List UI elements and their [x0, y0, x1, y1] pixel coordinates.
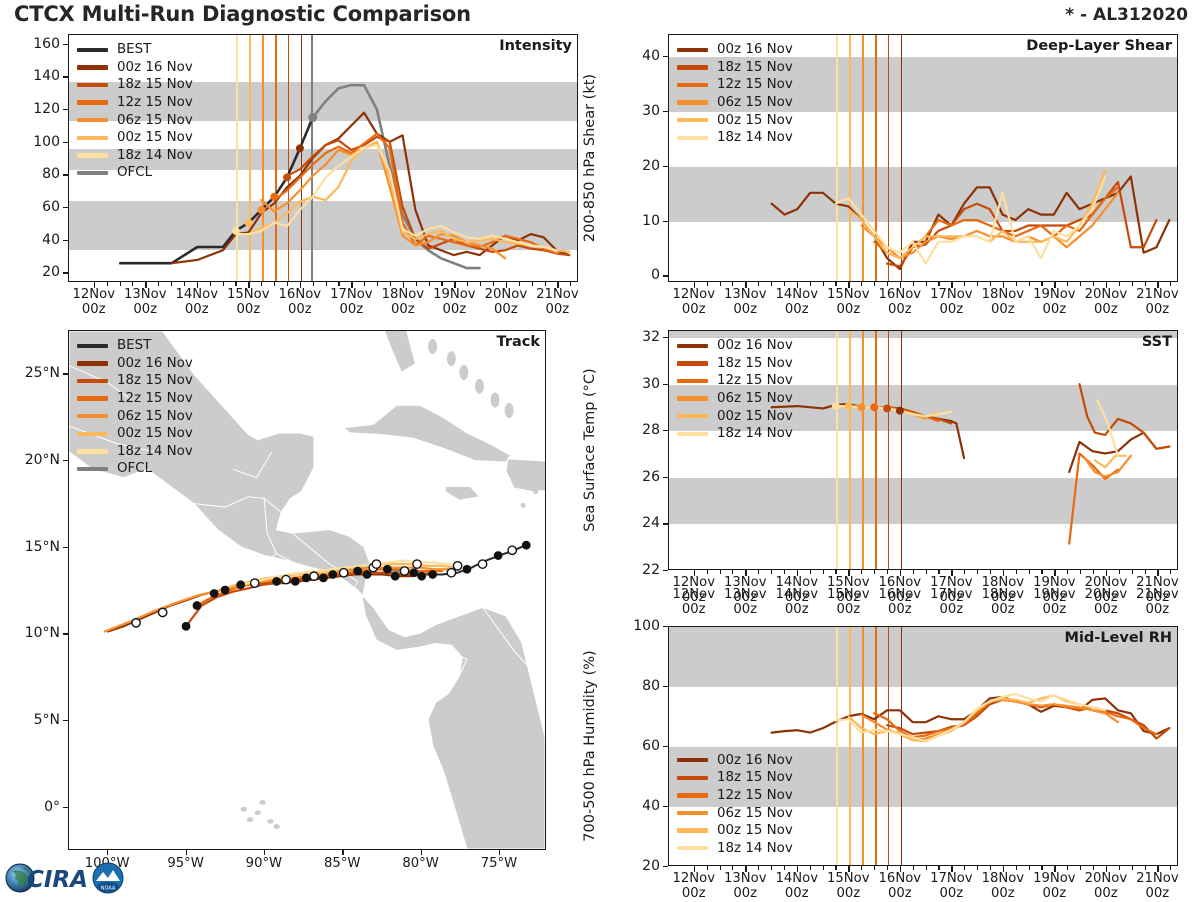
x-tick-minor: [338, 282, 339, 286]
x-tick-mark: [1003, 866, 1004, 872]
x-tick-mark: [848, 866, 849, 872]
x-tick-mark: [351, 282, 352, 288]
track-marker-hollow: [413, 560, 421, 568]
x-tick-minor: [720, 570, 721, 574]
legend-shear: 00z 16 Nov18z 15 Nov12z 15 Nov06z 15 Nov…: [677, 41, 793, 147]
x-tick-mark: [797, 866, 798, 872]
x-tick-day: 15Nov: [227, 287, 270, 302]
x-tick-day: 18Nov: [382, 287, 425, 302]
legend-item: 18z 15 Nov: [77, 76, 193, 94]
panel-title-rh: Mid-Level RH: [1065, 630, 1172, 646]
x-tick-label-upper: 13Nov00z: [724, 588, 767, 618]
y-tick-mark: [663, 384, 668, 385]
x-tick-minor: [874, 570, 875, 574]
x-tick-label: 15Nov00z: [227, 288, 270, 318]
legend-item: 18z 15 Nov: [77, 372, 193, 390]
x-tick-mark: [797, 570, 798, 576]
legend-label: 00z 16 Nov: [717, 42, 793, 57]
x-tick-minor: [977, 282, 978, 286]
x-tick-minor: [274, 282, 275, 286]
legend-item: 06z 15 Nov: [77, 407, 193, 425]
track-marker-filled: [494, 551, 503, 560]
x-tick-mark: [745, 282, 746, 288]
x-tick-mark: [745, 866, 746, 872]
legend-label: 06z 15 Nov: [117, 113, 193, 128]
legend-item: 00z 15 Nov: [677, 407, 793, 425]
legend-swatch-run_00z16: [77, 361, 108, 365]
track-marker-filled: [428, 570, 437, 579]
x-tick-label-upper: 20Nov00z: [1085, 588, 1128, 618]
x-tick-hour: 00z: [733, 602, 757, 617]
x-tick-minor: [707, 570, 708, 574]
x-tick-minor: [1029, 282, 1030, 286]
x-tick-label: 95°W: [167, 857, 203, 872]
x-tick-label-upper: 15Nov00z: [827, 588, 870, 618]
x-tick-hour: 00z: [733, 886, 757, 901]
y-tick-label: 20: [612, 158, 660, 174]
legend-label: 06z 15 Nov: [717, 391, 793, 406]
x-tick-minor: [1145, 570, 1146, 574]
track-marker-filled: [391, 572, 400, 581]
x-tick-minor: [1093, 866, 1094, 870]
x-tick-mark: [848, 282, 849, 288]
series-line: [1095, 456, 1126, 468]
x-tick-hour: 00z: [888, 886, 912, 901]
x-tick-mark: [197, 282, 198, 288]
track-marker-filled: [522, 541, 531, 550]
legend-swatch-run_00z16: [677, 758, 708, 762]
track-marker-hollow: [400, 567, 408, 575]
y-tick-mark: [63, 633, 68, 634]
x-tick-minor: [1145, 282, 1146, 286]
track-marker-filled: [319, 574, 328, 583]
x-tick-minor: [235, 282, 236, 286]
y-tick-mark: [663, 626, 668, 627]
track-marker-filled: [210, 589, 219, 598]
x-tick-hour: 00z: [391, 302, 415, 317]
x-tick-minor: [480, 282, 481, 286]
track-marker-hollow: [372, 560, 380, 568]
x-tick-minor: [493, 282, 494, 286]
x-tick-minor: [1067, 570, 1068, 574]
track-marker-hollow: [508, 546, 516, 554]
axes-rh: Mid-Level RH00z 16 Nov18z 15 Nov12z 15 N…: [668, 626, 1178, 866]
x-tick-minor: [532, 282, 533, 286]
x-tick-minor: [771, 570, 772, 574]
y-tick-label: 26: [612, 469, 660, 485]
legend-item: 18z 14 Nov: [677, 839, 793, 857]
x-tick-minor: [913, 282, 914, 286]
x-tick-day: 15Nov: [827, 587, 870, 602]
track-marker-filled: [193, 601, 202, 610]
x-tick-mark: [694, 570, 695, 576]
series-line: [772, 176, 1170, 269]
x-tick-minor: [570, 282, 571, 286]
x-tick-minor: [1016, 866, 1017, 870]
x-tick-hour: 00z: [339, 302, 363, 317]
x-tick-hour: 00z: [1146, 886, 1170, 901]
x-tick-minor: [926, 282, 927, 286]
y-tick-label: 10°N: [12, 625, 60, 641]
x-tick-mark: [900, 866, 901, 872]
x-tick-mark: [248, 282, 249, 288]
x-tick-minor: [874, 282, 875, 286]
track-marker-filled: [463, 565, 472, 574]
x-tick-minor: [823, 866, 824, 870]
y-tick-label: 160: [12, 36, 60, 52]
track-marker-hollow: [251, 579, 259, 587]
y-tick-mark: [663, 477, 668, 478]
x-tick-minor: [990, 570, 991, 574]
y-tick-mark: [63, 109, 68, 110]
legend-swatch-run_12z15: [677, 379, 708, 383]
x-tick-label: 13Nov00z: [124, 288, 167, 318]
legend-swatch-run_12z15: [677, 83, 708, 87]
x-tick-minor: [1067, 866, 1068, 870]
x-tick-hour: 00z: [494, 302, 518, 317]
y-tick-label: 100: [12, 134, 60, 150]
legend-item: 00z 16 Nov: [677, 751, 793, 769]
legend-item: OFCL: [77, 460, 193, 478]
track-marker-filled: [363, 570, 372, 579]
legend-swatch-run_18z14: [677, 136, 708, 140]
x-tick-minor: [990, 866, 991, 870]
x-tick-mark: [745, 570, 746, 576]
legend-label: 00z 16 Nov: [717, 753, 793, 768]
x-tick-label: 12Nov00z: [672, 288, 715, 318]
y-tick-mark: [63, 44, 68, 45]
x-tick-mark: [421, 850, 422, 855]
track-marker-hollow: [478, 560, 486, 568]
x-tick-day: 12Nov: [72, 287, 115, 302]
y-tick-mark: [663, 686, 668, 687]
svg-text:CIRA: CIRA: [27, 867, 88, 893]
x-tick-minor: [720, 282, 721, 286]
x-tick-label-upper: 21Nov00z: [1136, 588, 1179, 618]
x-tick-mark: [107, 850, 108, 855]
axes-sst: SST00z 16 Nov18z 15 Nov12z 15 Nov06z 15 …: [668, 330, 1178, 570]
legend-item: 12z 15 Nov: [677, 372, 793, 390]
legend-item: 00z 15 Nov: [677, 822, 793, 840]
y-tick-label: 32: [612, 329, 660, 345]
x-tick-minor: [441, 282, 442, 286]
x-tick-minor: [171, 282, 172, 286]
x-tick-day: 16Nov: [279, 287, 322, 302]
x-tick-minor: [287, 282, 288, 286]
x-tick-mark: [951, 570, 952, 576]
x-tick-label: 16Nov00z: [879, 288, 922, 318]
x-tick-minor: [758, 282, 759, 286]
x-tick-label-upper: 16Nov00z: [879, 588, 922, 618]
legend-item: 18z 15 Nov: [677, 769, 793, 787]
x-tick-minor: [1041, 866, 1042, 870]
x-tick-day: 13Nov: [724, 587, 767, 602]
legend-swatch-run_12z15: [77, 396, 108, 400]
x-tick-minor: [1080, 282, 1081, 286]
x-tick-hour: 00z: [1146, 602, 1170, 617]
x-tick-minor: [887, 282, 888, 286]
init-marker: [896, 407, 904, 415]
legend-item: 00z 16 Nov: [677, 337, 793, 355]
x-tick-hour: 00z: [836, 302, 860, 317]
series-line: [1080, 384, 1170, 449]
x-tick-label: 19Nov00z: [1033, 288, 1076, 318]
y-tick-label: 20°N: [12, 452, 60, 468]
legend-track: BEST00z 16 Nov18z 15 Nov12z 15 Nov06z 15…: [77, 337, 193, 478]
legend-item: 12z 15 Nov: [77, 94, 193, 112]
x-tick-minor: [823, 570, 824, 574]
x-tick-minor: [861, 866, 862, 870]
x-tick-hour: 00z: [1094, 302, 1118, 317]
page-title: CTCX Multi-Run Diagnostic Comparison: [14, 2, 471, 26]
x-tick-day: 19Nov: [1033, 871, 1076, 886]
x-tick-mark: [900, 570, 901, 576]
track-marker-hollow: [339, 569, 347, 577]
x-tick-mark: [1157, 570, 1158, 576]
legend-label: 18z 15 Nov: [117, 373, 193, 388]
legend-label: 18z 14 Nov: [717, 130, 793, 145]
x-tick-mark: [951, 282, 952, 288]
y-tick-mark: [63, 272, 68, 273]
y-tick-label: 22: [612, 562, 660, 578]
legend-swatch-run_06z15: [77, 414, 108, 418]
x-tick-day: 19Nov: [1033, 587, 1076, 602]
y-tick-mark: [663, 570, 668, 571]
legend-rh: 00z 16 Nov18z 15 Nov12z 15 Nov06z 15 Nov…: [677, 751, 793, 857]
legend-swatch-run_18z14: [77, 449, 108, 453]
x-tick-minor: [107, 282, 108, 286]
x-tick-minor: [784, 282, 785, 286]
legend-item: BEST: [77, 41, 193, 59]
legend-label: 12z 15 Nov: [717, 373, 793, 388]
y-tick-label: 40: [612, 48, 660, 64]
y-tick-mark: [663, 746, 668, 747]
x-tick-hour: 00z: [185, 302, 209, 317]
x-tick-minor: [1170, 866, 1171, 870]
x-tick-minor: [1132, 570, 1133, 574]
x-tick-mark: [186, 850, 187, 855]
y-tick-mark: [63, 142, 68, 143]
x-tick-label-upper: 19Nov00z: [1033, 588, 1076, 618]
x-tick-day: 20Nov: [1085, 287, 1128, 302]
legend-item: 06z 15 Nov: [677, 390, 793, 408]
x-tick-minor: [1041, 282, 1042, 286]
x-tick-day: 13Nov: [124, 287, 167, 302]
x-tick-day: 13Nov: [724, 287, 767, 302]
x-tick-label: 85°W: [324, 857, 360, 872]
x-tick-day: 14Nov: [776, 587, 819, 602]
x-tick-day: 21Nov: [1136, 587, 1179, 602]
panel-title-track: Track: [497, 334, 540, 350]
x-tick-label: 13Nov00z: [724, 872, 767, 902]
x-tick-day: 14Nov: [776, 871, 819, 886]
x-tick-minor: [120, 282, 121, 286]
legend-swatch-run_06z15: [77, 118, 108, 122]
x-tick-mark: [1054, 282, 1055, 288]
legend-label: OFCL: [117, 165, 152, 180]
x-tick-minor: [132, 282, 133, 286]
track-marker-hollow: [282, 575, 290, 583]
init-marker: [296, 144, 304, 152]
track-marker-hollow: [310, 572, 318, 580]
y-tick-mark: [663, 337, 668, 338]
legend-swatch-ofcl: [77, 467, 108, 471]
legend-sst: 00z 16 Nov18z 15 Nov12z 15 Nov06z 15 Nov…: [677, 337, 793, 443]
y-tick-mark: [63, 76, 68, 77]
init-marker: [270, 193, 278, 201]
x-tick-day: 19Nov: [1033, 287, 1076, 302]
x-tick-minor: [977, 866, 978, 870]
x-tick-minor: [977, 570, 978, 574]
x-tick-minor: [1016, 570, 1017, 574]
init-marker: [883, 404, 891, 412]
init-marker: [283, 173, 291, 181]
legend-label: 00z 15 Nov: [117, 130, 193, 145]
x-tick-mark: [145, 282, 146, 288]
x-tick-label: 90°W: [246, 857, 282, 872]
x-tick-mark: [403, 282, 404, 288]
x-tick-day: 19Nov: [433, 287, 476, 302]
x-tick-minor: [784, 570, 785, 574]
x-tick-label: 12Nov00z: [72, 288, 115, 318]
x-tick-label: 14Nov00z: [176, 288, 219, 318]
y-tick-mark: [663, 166, 668, 167]
x-tick-day: 20Nov: [1085, 871, 1128, 886]
legend-swatch-best: [77, 344, 108, 348]
x-tick-hour: 00z: [836, 886, 860, 901]
legend-label: 00z 15 Nov: [117, 426, 193, 441]
x-tick-mark: [951, 866, 952, 872]
x-tick-minor: [835, 570, 836, 574]
legend-swatch-run_00z16: [677, 344, 708, 348]
series-line: [1069, 433, 1169, 472]
x-tick-hour: 00z: [1146, 302, 1170, 317]
y-tick-mark: [663, 56, 668, 57]
x-tick-hour: 00z: [733, 302, 757, 317]
x-tick-label: 14Nov00z: [776, 288, 819, 318]
x-tick-label: 20Nov00z: [485, 288, 528, 318]
x-tick-day: 17Nov: [930, 287, 973, 302]
legend-swatch-run_00z15: [77, 136, 108, 140]
x-tick-day: 20Nov: [485, 287, 528, 302]
panel-title-sst: SST: [1142, 334, 1172, 350]
x-tick-minor: [835, 282, 836, 286]
legend-label: 00z 16 Nov: [117, 60, 193, 75]
legend-label: 18z 15 Nov: [117, 77, 193, 92]
x-tick-hour: 00z: [682, 302, 706, 317]
panel-rh: Mid-Level RH00z 16 Nov18z 15 Nov12z 15 N…: [668, 626, 1178, 866]
x-tick-minor: [1170, 570, 1171, 574]
y-tick-mark: [63, 547, 68, 548]
legend-label: 12z 15 Nov: [117, 95, 193, 110]
legend-swatch-run_06z15: [677, 396, 708, 400]
x-tick-minor: [771, 866, 772, 870]
legend-item: BEST: [77, 337, 193, 355]
cira-logo: CIRA NOAA: [4, 857, 128, 899]
x-tick-minor: [707, 866, 708, 870]
x-tick-hour: 00z: [785, 302, 809, 317]
legend-label: 18z 15 Nov: [717, 770, 793, 785]
legend-label: 00z 16 Nov: [717, 338, 793, 353]
x-tick-hour: 00z: [991, 302, 1015, 317]
series-line: [849, 171, 1106, 258]
legend-item: 18z 14 Nov: [677, 425, 793, 443]
x-tick-minor: [158, 282, 159, 286]
x-tick-day: 16Nov: [879, 871, 922, 886]
x-tick-mark: [848, 570, 849, 576]
track-marker-filled: [302, 574, 311, 583]
legend-item: 00z 16 Nov: [77, 59, 193, 77]
x-tick-label: 20Nov00z: [1085, 288, 1128, 318]
legend-item: 00z 15 Nov: [77, 129, 193, 147]
x-tick-minor: [874, 866, 875, 870]
legend-swatch-run_18z15: [677, 65, 708, 69]
legend-swatch-run_06z15: [677, 100, 708, 104]
series-line: [1085, 456, 1131, 477]
legend-swatch-run_18z15: [77, 379, 108, 383]
x-tick-day: 17Nov: [930, 871, 973, 886]
legend-swatch-run_12z15: [677, 793, 708, 797]
x-tick-label: 20Nov00z: [1085, 872, 1128, 902]
x-tick-mark: [557, 282, 558, 288]
track-marker-filled: [272, 577, 281, 586]
legend-item: 06z 15 Nov: [677, 94, 793, 112]
legend-swatch-run_18z15: [677, 776, 708, 780]
x-tick-minor: [519, 282, 520, 286]
x-tick-minor: [390, 282, 391, 286]
x-tick-day: 18Nov: [982, 871, 1025, 886]
x-tick-day: 17Nov: [330, 287, 373, 302]
legend-label: BEST: [117, 338, 151, 353]
x-tick-mark: [1157, 866, 1158, 872]
track-marker-hollow: [132, 619, 140, 627]
track-marker-filled: [182, 622, 191, 631]
x-tick-day: 18Nov: [982, 287, 1025, 302]
x-tick-minor: [1132, 866, 1133, 870]
x-tick-label: 21Nov00z: [1136, 288, 1179, 318]
legend-label: 00z 15 Nov: [717, 113, 793, 128]
legend-item: 00z 16 Nov: [77, 355, 193, 373]
x-tick-label: 12Nov00z: [672, 872, 715, 902]
x-tick-mark: [264, 850, 265, 855]
y-tick-label: 0°: [12, 799, 60, 815]
storm-id-label: * - AL312020: [1065, 5, 1188, 25]
y-tick-mark: [663, 111, 668, 112]
y-tick-label: 24: [612, 515, 660, 531]
x-tick-mark: [1003, 282, 1004, 288]
init-marker: [845, 402, 853, 410]
x-tick-hour: 00z: [836, 602, 860, 617]
x-tick-mark: [1003, 570, 1004, 576]
track-marker-hollow: [453, 562, 461, 570]
y-tick-label: 28: [612, 422, 660, 438]
x-tick-minor: [810, 570, 811, 574]
x-tick-minor: [210, 282, 211, 286]
x-tick-mark: [1157, 282, 1158, 288]
legend-label: 18z 15 Nov: [717, 356, 793, 371]
init-marker: [245, 219, 253, 227]
x-tick-mark: [900, 282, 901, 288]
track-marker-filled: [383, 565, 392, 574]
legend-label: 18z 15 Nov: [717, 60, 793, 75]
y-tick-label: 5°N: [12, 712, 60, 728]
legend-swatch-run_00z15: [77, 432, 108, 436]
y-tick-mark: [63, 240, 68, 241]
x-tick-minor: [938, 866, 939, 870]
legend-swatch-run_06z15: [677, 811, 708, 815]
y-tick-label: 120: [12, 101, 60, 117]
ofcl-marker: [308, 113, 317, 122]
